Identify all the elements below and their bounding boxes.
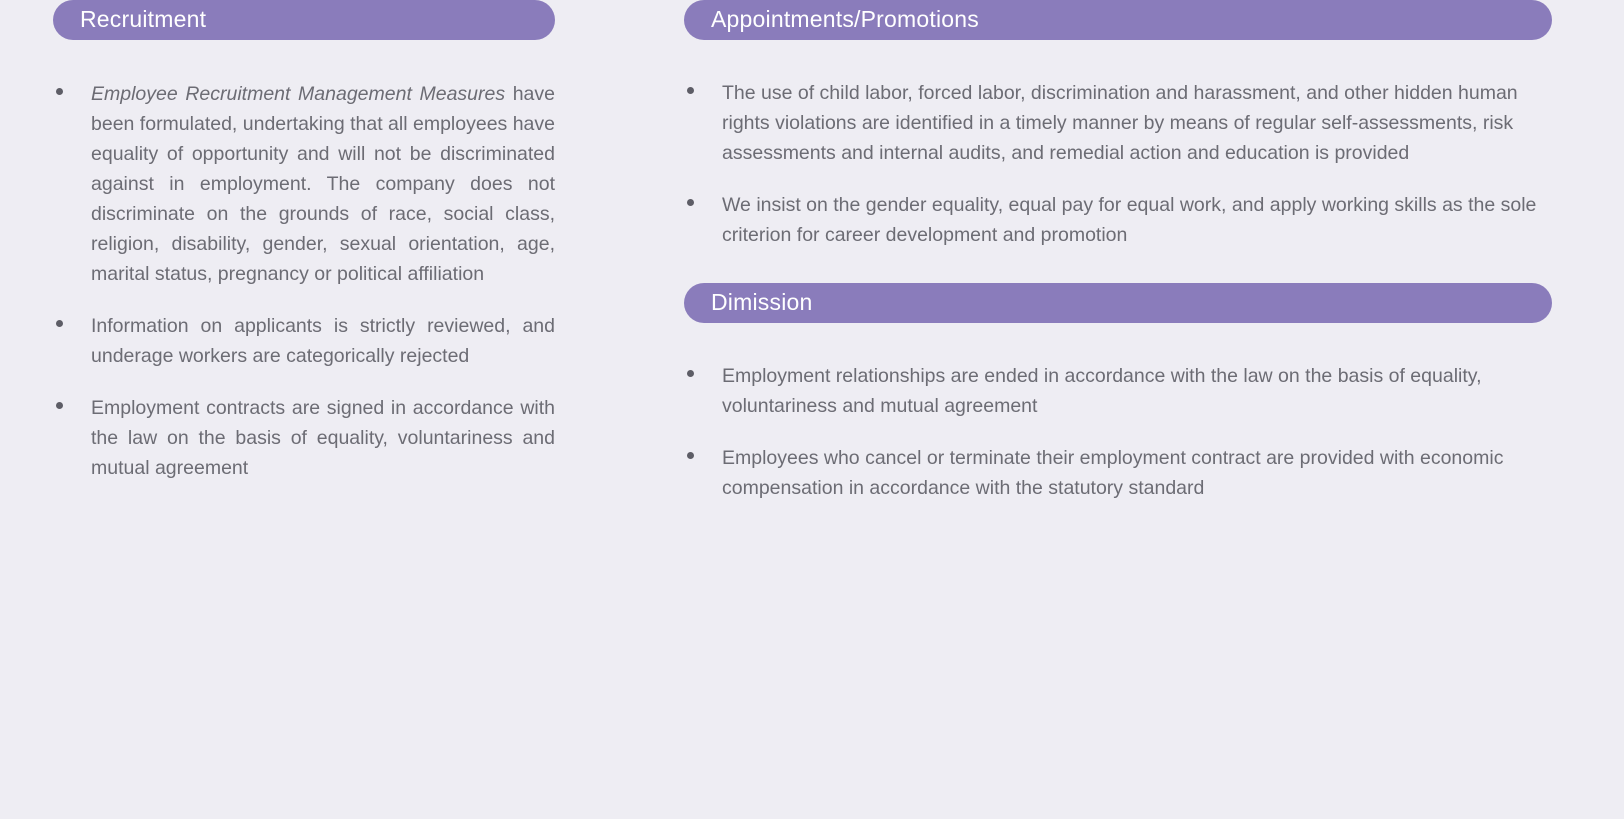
list-item: We insist on the gender equality, equal … [684, 190, 1552, 250]
bullet-marker-icon [684, 361, 722, 391]
dimission-bullet-list: Employment relationships are ended in ac… [684, 361, 1552, 503]
list-item: Employee Recruitment Management Measures… [53, 79, 555, 289]
slide-content-page: Recruitment Employee Recruitment Managem… [0, 0, 1624, 819]
list-item-text: The use of child labor, forced labor, di… [722, 78, 1552, 168]
section-header-appointments-promotions-label: Appointments/Promotions [711, 8, 979, 31]
list-item: Employees who cancel or terminate their … [684, 443, 1552, 503]
list-item-emphasis: Employee Recruitment Management Measures [91, 83, 505, 105]
list-item: Employment contracts are signed in accor… [53, 393, 555, 483]
bullet-marker-icon [53, 79, 91, 109]
list-item-text: Information on applicants is strictly re… [91, 311, 555, 371]
section-header-dimission: Dimission [684, 283, 1552, 323]
left-column: Recruitment Employee Recruitment Managem… [53, 0, 555, 505]
list-item: The use of child labor, forced labor, di… [684, 78, 1552, 168]
section-header-recruitment: Recruitment [53, 0, 555, 40]
list-item: Information on applicants is strictly re… [53, 311, 555, 371]
list-item-text: Employee Recruitment Management Measures… [91, 79, 555, 289]
recruitment-bullet-list: Employee Recruitment Management Measures… [53, 79, 555, 483]
bullet-marker-icon [53, 393, 91, 423]
list-item-text: Employees who cancel or terminate their … [722, 443, 1552, 503]
list-item: Employment relationships are ended in ac… [684, 361, 1552, 421]
bullet-marker-icon [684, 190, 722, 220]
section-header-recruitment-label: Recruitment [80, 8, 206, 31]
section-header-dimission-label: Dimission [711, 291, 812, 314]
bullet-marker-icon [684, 78, 722, 108]
section-header-appointments-promotions: Appointments/Promotions [684, 0, 1552, 40]
right-column: Appointments/Promotions The use of child… [684, 0, 1552, 525]
bullet-marker-icon [684, 443, 722, 473]
appointments-promotions-bullet-list: The use of child labor, forced labor, di… [684, 78, 1552, 250]
bullet-marker-icon [53, 311, 91, 341]
list-item-text: We insist on the gender equality, equal … [722, 190, 1552, 250]
list-item-rest: have been formulated, undertaking that a… [91, 83, 555, 285]
list-item-text: Employment contracts are signed in accor… [91, 393, 555, 483]
list-item-text: Employment relationships are ended in ac… [722, 361, 1552, 421]
